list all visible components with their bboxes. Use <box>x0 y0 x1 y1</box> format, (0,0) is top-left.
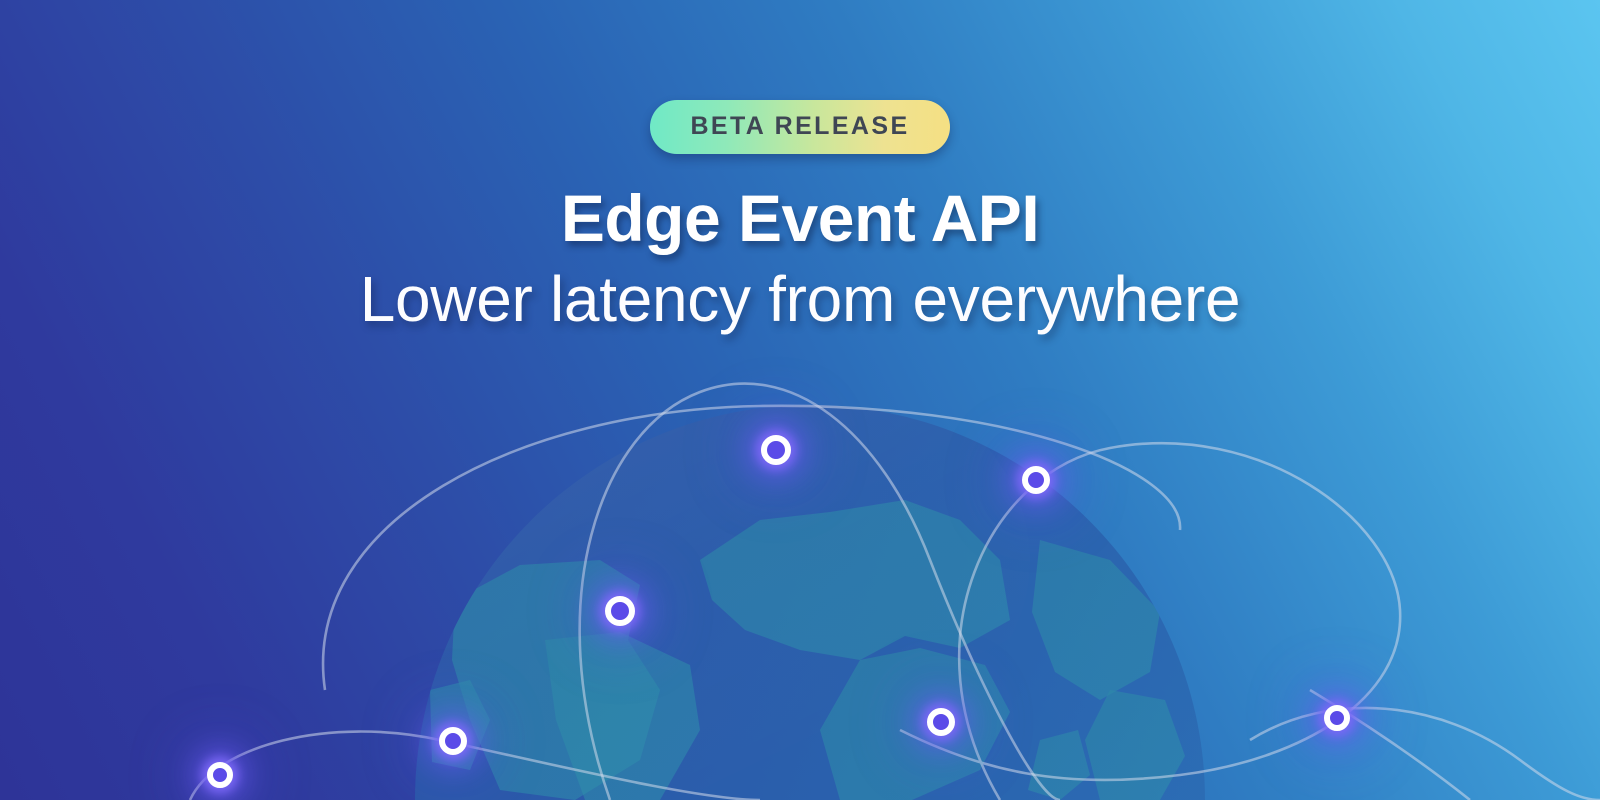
node-far-east <box>1324 705 1350 731</box>
orbit-arc-4 <box>190 732 760 800</box>
orbit-arc-5 <box>1250 708 1600 800</box>
hero-banner: BETA RELEASE Edge Event API Lower latenc… <box>0 0 1600 800</box>
globe-landmasses <box>430 500 1185 800</box>
node-south-west <box>439 727 467 755</box>
page-title: Edge Event API <box>0 185 1600 251</box>
node-south-central <box>927 708 955 736</box>
node-edge-bottom <box>207 762 233 788</box>
hero-content: BETA RELEASE Edge Event API Lower latenc… <box>0 0 1600 334</box>
node-north-east <box>1022 466 1050 494</box>
globe-sphere <box>370 330 1205 800</box>
node-mid-west <box>605 596 635 626</box>
orbit-arc-1 <box>323 406 1180 690</box>
orbit-arc-3 <box>900 443 1400 800</box>
orbit-paths <box>190 384 1600 800</box>
beta-release-badge: BETA RELEASE <box>650 100 949 154</box>
page-subtitle: Lower latency from everywhere <box>0 265 1600 334</box>
orbit-arc-2 <box>580 384 1060 800</box>
node-north-central <box>761 435 791 465</box>
